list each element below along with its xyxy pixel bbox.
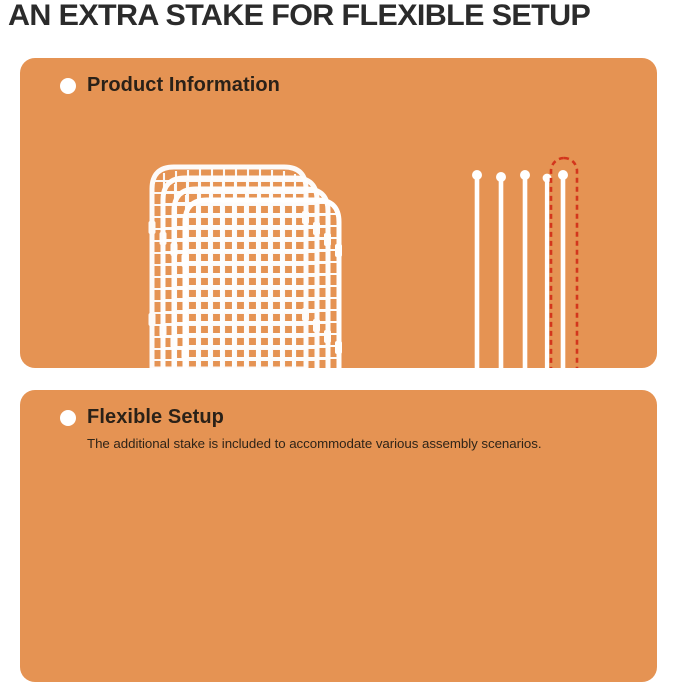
flexible-setup-header: Flexible Setup [60, 406, 224, 429]
infographic-page: AN EXTRA STAKE FOR FLEXIBLE SETUP Produc… [0, 0, 679, 690]
section-heading: Flexible Setup [87, 406, 224, 429]
ground-stakes-figure [463, 166, 583, 368]
bullet-dot-icon [60, 78, 76, 94]
section-subtitle: The additional stake is included to acco… [87, 436, 542, 451]
section-product-information: Product Information [20, 58, 657, 368]
page-title: AN EXTRA STAKE FOR FLEXIBLE SETUP [8, 0, 679, 34]
bullet-dot-icon [60, 410, 76, 426]
section-flexible-setup: Flexible Setup The additional stake is i… [20, 390, 657, 682]
stacked-fence-panels-figure [148, 163, 388, 368]
section-heading: Product Information [87, 74, 280, 97]
product-information-header: Product Information [60, 74, 280, 97]
